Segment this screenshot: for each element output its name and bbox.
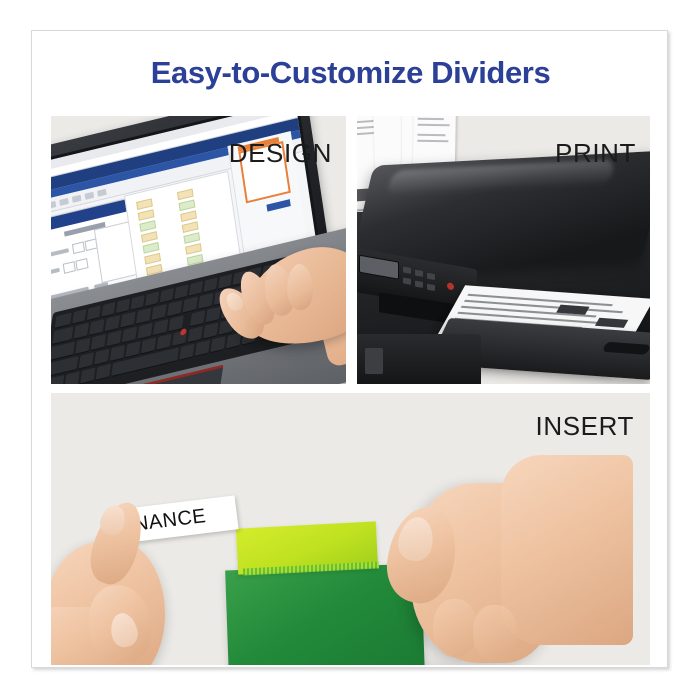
content-card: Easy-to-Customize Dividers	[31, 30, 668, 668]
panel-print: PRINT	[357, 116, 650, 384]
printer-button[interactable]	[403, 266, 411, 273]
hand-left	[51, 489, 227, 665]
printer-button[interactable]	[415, 270, 423, 277]
page-title: Easy-to-Customize Dividers	[32, 55, 668, 91]
form-input[interactable]	[72, 241, 85, 254]
cassette-handle[interactable]	[365, 348, 383, 374]
right-finger-behind	[433, 599, 477, 657]
form-input[interactable]	[63, 261, 76, 274]
panel-label-print: PRINT	[555, 138, 636, 169]
printer-paper-cassette	[357, 334, 481, 384]
form-label	[51, 248, 69, 260]
panel-insert: FINANCE INSERT	[51, 393, 650, 665]
printer-lcd-screen	[359, 255, 399, 280]
tray-handle[interactable]	[602, 342, 650, 355]
form-input[interactable]	[75, 258, 88, 271]
panel-label-design: DESIGN	[229, 138, 332, 169]
printer-button[interactable]	[427, 273, 435, 280]
printer-button[interactable]	[415, 281, 423, 288]
panel-label-insert: INSERT	[536, 411, 634, 442]
hand-right	[381, 449, 631, 665]
right-wrist	[501, 455, 633, 645]
product-feature-graphic: Easy-to-Customize Dividers	[0, 0, 700, 700]
power-indicator[interactable]	[447, 282, 454, 290]
panel-design: DESIGN	[51, 116, 346, 384]
printer-button[interactable]	[403, 277, 411, 284]
right-finger-behind	[473, 605, 517, 661]
hand-on-keyboard	[191, 240, 346, 370]
form-label	[51, 268, 60, 277]
printer-button[interactable]	[427, 284, 435, 291]
